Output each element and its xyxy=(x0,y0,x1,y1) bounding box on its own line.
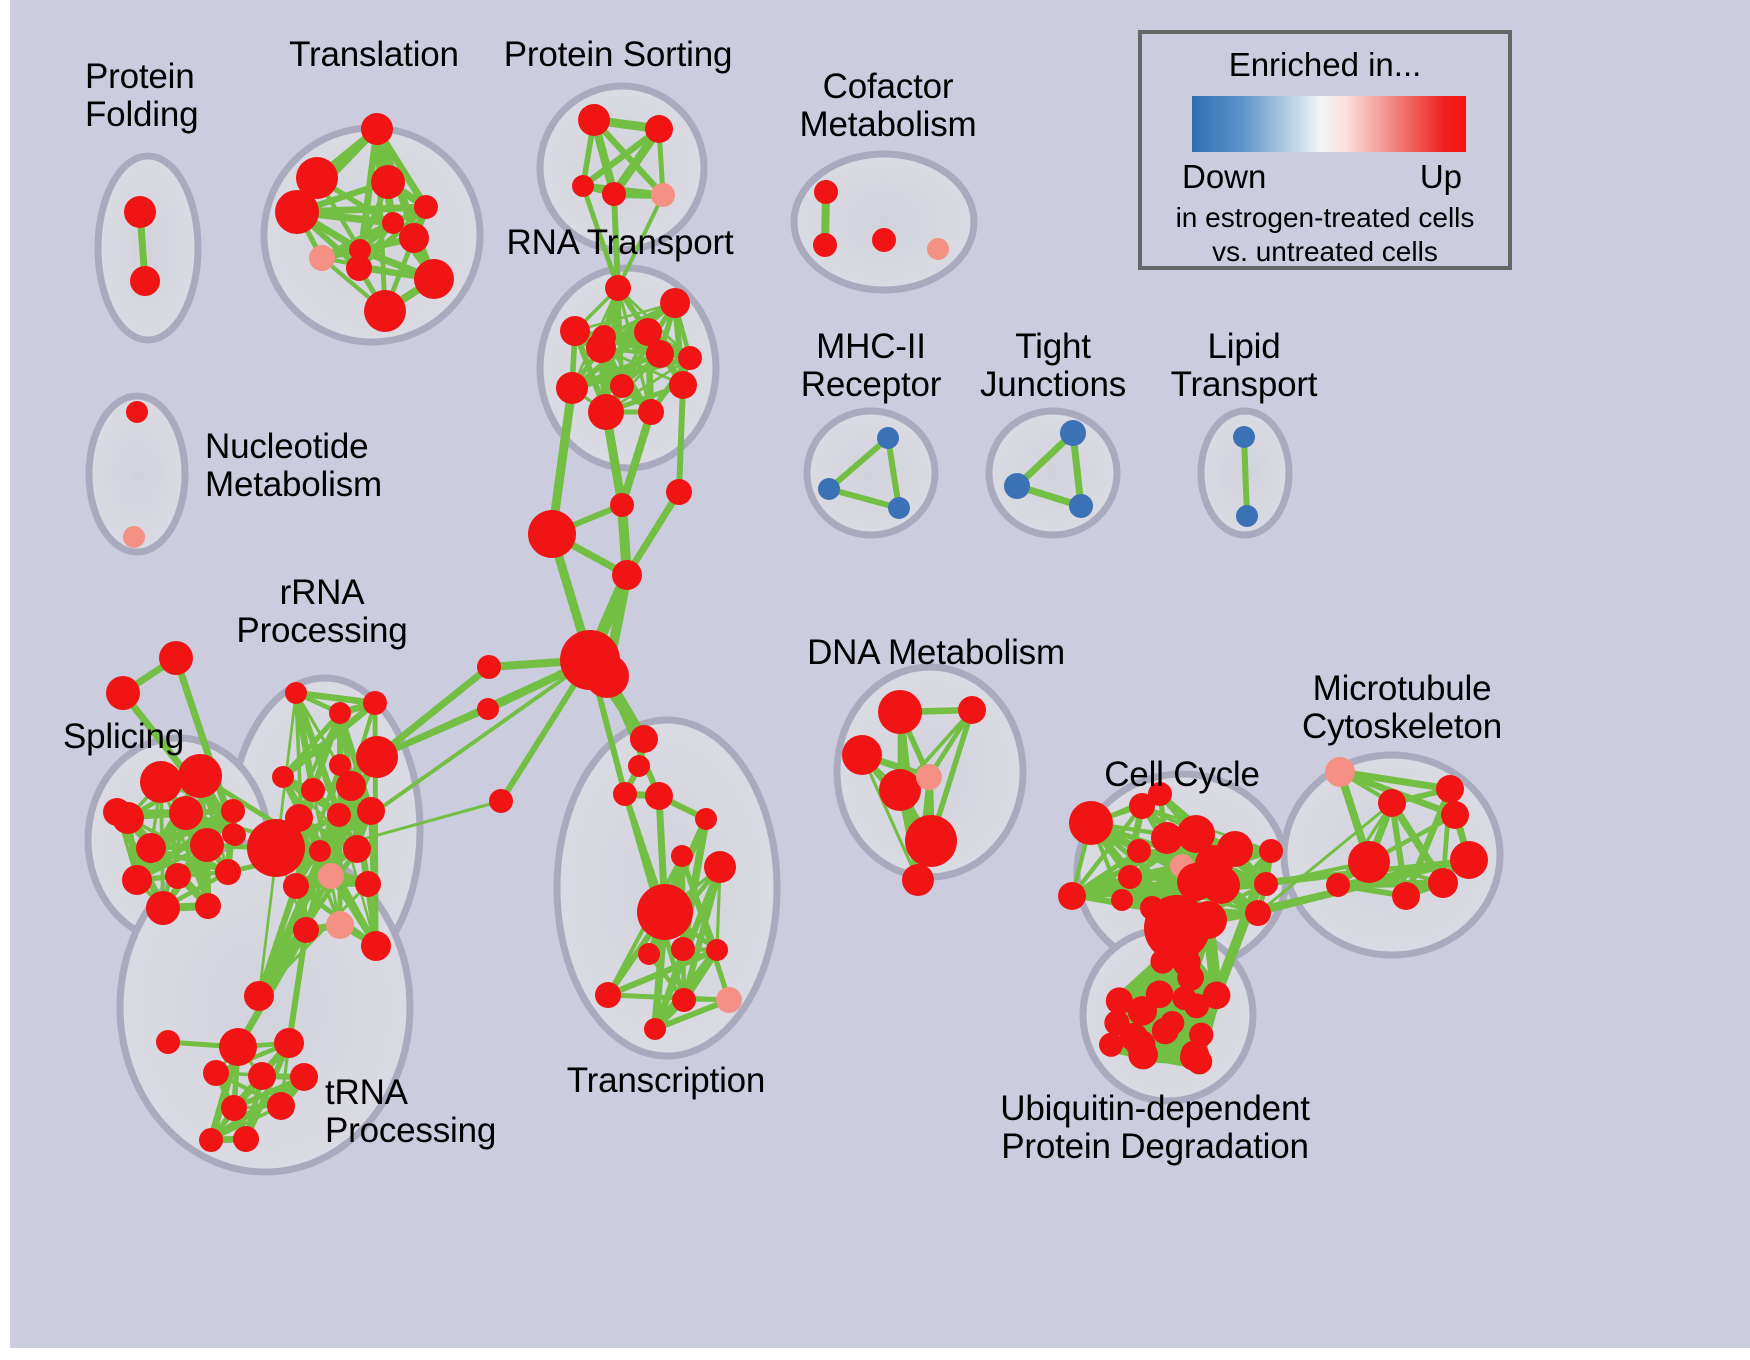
network-node xyxy=(399,223,429,253)
cluster-label-microtubule-cytoskeleton: Microtubule Cytoskeleton xyxy=(1302,670,1502,746)
network-node xyxy=(156,1030,180,1054)
cluster-label-lipid-transport: Lipid Transport xyxy=(1171,328,1318,404)
network-node xyxy=(669,371,697,399)
network-node xyxy=(122,865,152,895)
network-node xyxy=(1450,841,1488,879)
network-node xyxy=(477,655,501,679)
network-node xyxy=(818,478,840,500)
network-node xyxy=(361,113,393,145)
network-node xyxy=(290,1063,318,1091)
network-edge xyxy=(1244,437,1247,516)
network-node xyxy=(356,736,398,778)
network-node xyxy=(1217,831,1253,867)
network-node xyxy=(1325,757,1355,787)
network-node xyxy=(195,893,221,919)
network-node xyxy=(130,266,160,296)
legend-low-label: Down xyxy=(1182,158,1266,196)
cluster-label-cell-cycle: Cell Cycle xyxy=(1104,756,1260,794)
network-node xyxy=(528,510,576,558)
legend-panel: Enriched in... Down Up in estrogen-treat… xyxy=(1138,30,1512,270)
network-node xyxy=(879,769,921,811)
network-node xyxy=(1111,889,1133,911)
network-node xyxy=(1177,964,1204,991)
network-node xyxy=(958,696,986,724)
network-node xyxy=(309,840,331,862)
cluster-label-splicing: Splicing xyxy=(63,718,184,756)
network-node xyxy=(267,1092,295,1120)
network-node xyxy=(327,803,351,827)
network-node xyxy=(645,782,673,810)
legend-color-gradient-bar xyxy=(1192,96,1466,152)
network-node xyxy=(224,824,246,846)
network-node xyxy=(1259,839,1283,863)
network-node xyxy=(272,766,294,788)
network-node xyxy=(336,771,366,801)
network-node xyxy=(285,682,307,704)
network-node xyxy=(1152,1017,1179,1044)
network-node xyxy=(695,808,717,830)
network-node xyxy=(1146,980,1174,1008)
network-node xyxy=(610,374,634,398)
network-node xyxy=(1004,473,1030,499)
legend-subtitle-line-2: vs. untreated cells xyxy=(1142,236,1508,268)
network-node xyxy=(1236,505,1258,527)
network-node xyxy=(275,190,319,234)
network-node xyxy=(1120,1023,1149,1052)
network-node xyxy=(637,884,693,940)
legend-title: Enriched in... xyxy=(1142,46,1508,84)
cluster-ellipse xyxy=(98,156,198,340)
network-node xyxy=(602,182,626,206)
cluster-label-protein-folding: Protein Folding xyxy=(85,58,198,134)
cluster-label-tight-junctions: Tight Junctions xyxy=(980,328,1126,404)
network-node xyxy=(1441,801,1469,829)
network-node xyxy=(1118,865,1142,889)
network-node xyxy=(645,115,673,143)
network-node xyxy=(477,698,499,720)
network-node xyxy=(1189,901,1227,939)
network-node xyxy=(136,833,166,863)
network-node xyxy=(301,778,325,802)
network-node xyxy=(1326,873,1350,897)
network-edge xyxy=(679,385,683,492)
enrichment-network-figure: Protein FoldingTranslationProtein Sortin… xyxy=(0,0,1750,1360)
network-node xyxy=(660,288,690,318)
network-node xyxy=(346,255,372,281)
network-node xyxy=(927,238,949,260)
network-node xyxy=(672,988,696,1012)
network-node xyxy=(651,183,675,207)
network-node xyxy=(612,560,642,590)
network-node xyxy=(489,789,513,813)
network-node xyxy=(1392,882,1420,910)
network-node xyxy=(326,911,354,939)
network-node xyxy=(586,333,616,363)
network-node xyxy=(318,863,344,889)
network-node xyxy=(678,346,702,370)
network-node xyxy=(646,340,674,368)
network-node xyxy=(247,819,305,877)
network-node xyxy=(363,691,387,715)
network-node xyxy=(361,931,391,961)
cluster-label-mhc-ii-receptor: MHC-II Receptor xyxy=(801,328,941,404)
network-node xyxy=(644,1018,666,1040)
network-node xyxy=(877,427,899,449)
network-node xyxy=(219,1028,257,1066)
network-node xyxy=(357,797,385,825)
network-node xyxy=(628,755,650,777)
network-node xyxy=(704,851,736,883)
network-node xyxy=(1245,900,1271,926)
cluster-label-rna-transport: RNA Transport xyxy=(507,224,734,262)
network-node xyxy=(178,754,222,798)
network-node xyxy=(605,275,631,301)
network-node xyxy=(814,180,838,204)
cluster-label-trna-processing: tRNA Processing xyxy=(325,1074,496,1150)
network-node xyxy=(666,479,692,505)
network-node xyxy=(414,259,454,299)
network-node xyxy=(595,982,621,1008)
cluster-ellipse xyxy=(794,154,974,290)
network-node xyxy=(244,981,274,1011)
network-node xyxy=(1174,943,1199,968)
legend-high-label: Up xyxy=(1420,158,1462,196)
network-node xyxy=(813,233,837,257)
network-node xyxy=(126,401,148,423)
network-node xyxy=(106,676,140,710)
network-node xyxy=(309,245,335,271)
network-node xyxy=(103,798,131,826)
network-node xyxy=(878,690,922,734)
network-node xyxy=(630,725,658,753)
network-node xyxy=(382,212,404,234)
network-node xyxy=(364,290,406,332)
network-node xyxy=(1202,866,1240,904)
network-node xyxy=(215,859,241,885)
network-node xyxy=(343,835,371,863)
cluster-label-dna-metabolism: DNA Metabolism xyxy=(807,634,1065,672)
network-node xyxy=(716,987,742,1013)
network-node xyxy=(916,764,942,790)
cluster-label-nucleotide-metabolism: Nucleotide Metabolism xyxy=(205,428,382,504)
network-node xyxy=(293,917,319,943)
network-node xyxy=(140,761,182,803)
network-node xyxy=(1150,949,1174,973)
cluster-label-cofactor-metabolism: Cofactor Metabolism xyxy=(800,68,977,144)
cluster-label-transcription: Transcription xyxy=(567,1062,765,1100)
network-node xyxy=(1378,789,1406,817)
network-node xyxy=(610,493,634,517)
network-node xyxy=(671,845,693,867)
network-node xyxy=(613,782,637,806)
network-node xyxy=(124,196,156,228)
network-node xyxy=(872,228,896,252)
network-node xyxy=(329,702,351,724)
network-node xyxy=(1254,872,1278,896)
network-node xyxy=(1184,993,1209,1018)
network-node xyxy=(585,654,629,698)
network-node xyxy=(355,871,381,897)
network-node xyxy=(190,828,224,862)
cluster-label-ubiquitin-protein-degradation: Ubiquitin-dependent Protein Degradation xyxy=(1000,1090,1310,1166)
network-node xyxy=(199,1128,223,1152)
network-node xyxy=(159,641,193,675)
network-node xyxy=(1060,420,1086,446)
network-node xyxy=(1233,426,1255,448)
network-node xyxy=(1099,1033,1123,1057)
network-node xyxy=(1348,841,1390,883)
network-node xyxy=(1127,839,1151,863)
network-node xyxy=(414,195,438,219)
network-node xyxy=(233,1126,259,1152)
network-node xyxy=(123,526,145,548)
cluster-label-rrna-processing: rRNA Processing xyxy=(236,574,407,650)
network-node xyxy=(1069,801,1113,845)
network-node xyxy=(588,394,624,430)
network-node xyxy=(165,863,191,889)
network-node xyxy=(1436,775,1464,803)
network-node xyxy=(638,943,660,965)
network-node xyxy=(842,735,882,775)
network-node xyxy=(248,1062,276,1090)
network-node xyxy=(221,799,245,823)
network-node xyxy=(1428,868,1458,898)
network-node xyxy=(274,1028,304,1058)
network-node xyxy=(578,104,610,136)
network-node xyxy=(169,796,203,830)
network-node xyxy=(221,1095,247,1121)
network-node xyxy=(556,372,588,404)
network-node xyxy=(203,1060,229,1086)
cluster-label-translation: Translation xyxy=(289,36,459,74)
network-node xyxy=(1069,494,1093,518)
network-node xyxy=(1058,882,1086,910)
network-node xyxy=(638,399,664,425)
cluster-ellipse xyxy=(989,411,1117,535)
network-node xyxy=(905,815,957,867)
network-node xyxy=(706,939,728,961)
network-node xyxy=(560,316,590,346)
network-node xyxy=(671,937,695,961)
cluster-label-protein-sorting: Protein Sorting xyxy=(504,36,733,74)
network-node xyxy=(572,175,594,197)
network-node xyxy=(888,497,910,519)
network-node xyxy=(371,165,405,199)
network-node xyxy=(283,873,309,899)
network-node xyxy=(902,864,934,896)
network-node xyxy=(1180,1040,1209,1069)
legend-subtitle-line-1: in estrogen-treated cells xyxy=(1142,202,1508,234)
network-node xyxy=(146,891,180,925)
cluster-ellipse xyxy=(807,411,935,535)
